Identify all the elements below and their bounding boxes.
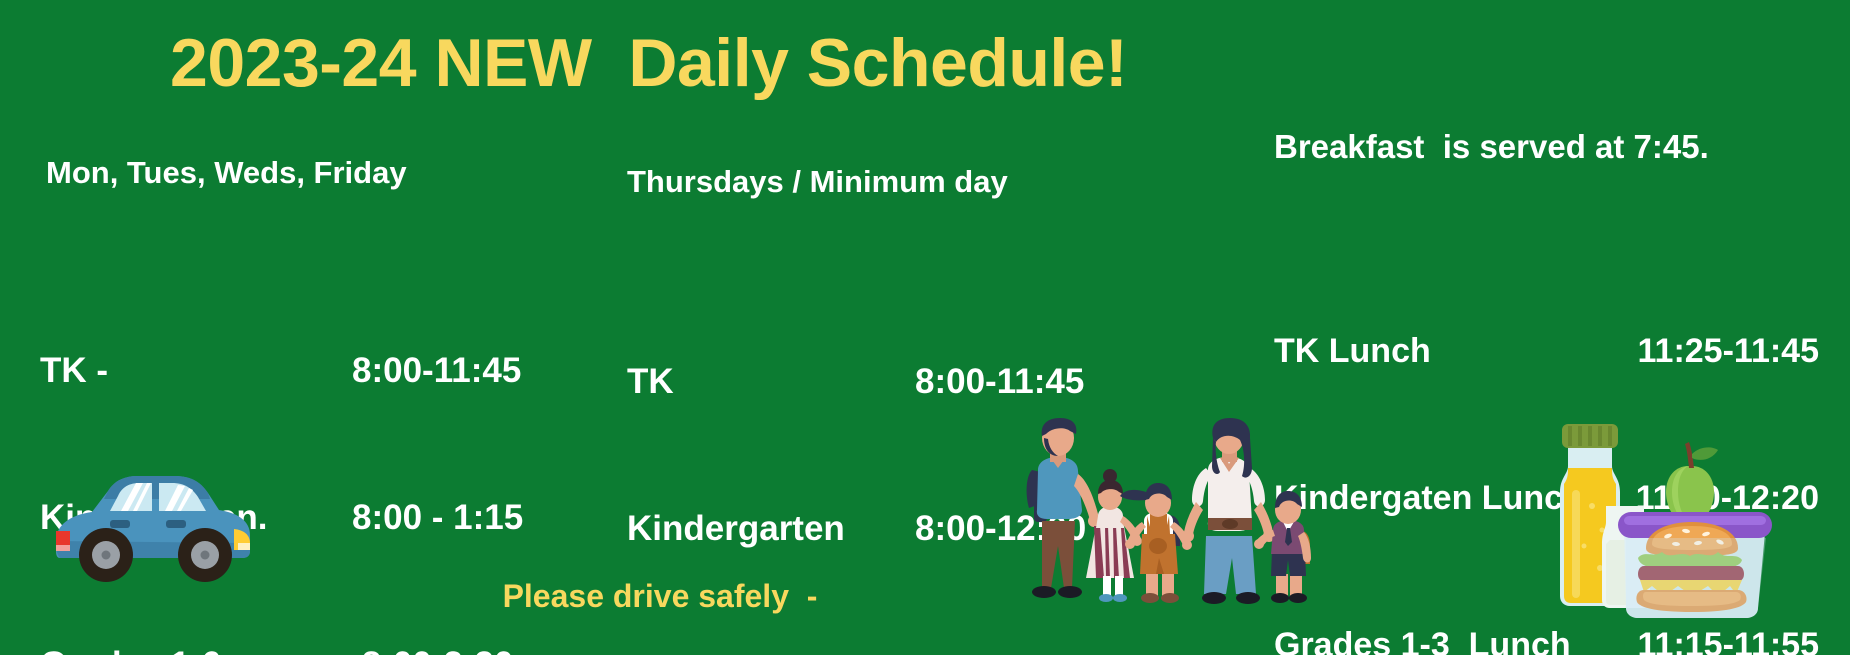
lunch-box-icon [1540,418,1780,643]
schedule-label: TK - [40,346,352,395]
table-row: TK Lunch 11:25-11:45 [1274,327,1819,376]
drive-safely-message: Please drive safely - Remember 15mph in … [330,474,990,655]
schedule-time: 11:25-11:45 [1629,327,1819,376]
weekdays-heading: Mon, Tues, Weds, Friday [46,155,407,191]
family-icon [1020,418,1320,643]
table-row: TK - 8:00-11:45 [40,346,523,395]
table-row: TK 8:00-11:45 [627,357,1086,406]
page-title: 2023-24 NEW Daily Schedule! [170,28,1127,99]
car-icon [48,455,258,590]
thursday-heading: Thursdays / Minimum day [627,164,1008,200]
drive-safely-line-1: Please drive safely - [330,572,990,621]
schedule-label: Grades 1-6 [40,640,352,655]
schedule-time: 8:00-11:45 [915,357,1084,406]
breakfast-heading: Breakfast is served at 7:45. [1274,128,1709,166]
schedule-label: TK [627,357,915,406]
schedule-label: TK Lunch [1274,327,1629,376]
schedule-time: 8:00-11:45 [352,346,521,395]
school-schedule-banner: 2023-24 NEW Daily Schedule! Mon, Tues, W… [0,0,1850,655]
